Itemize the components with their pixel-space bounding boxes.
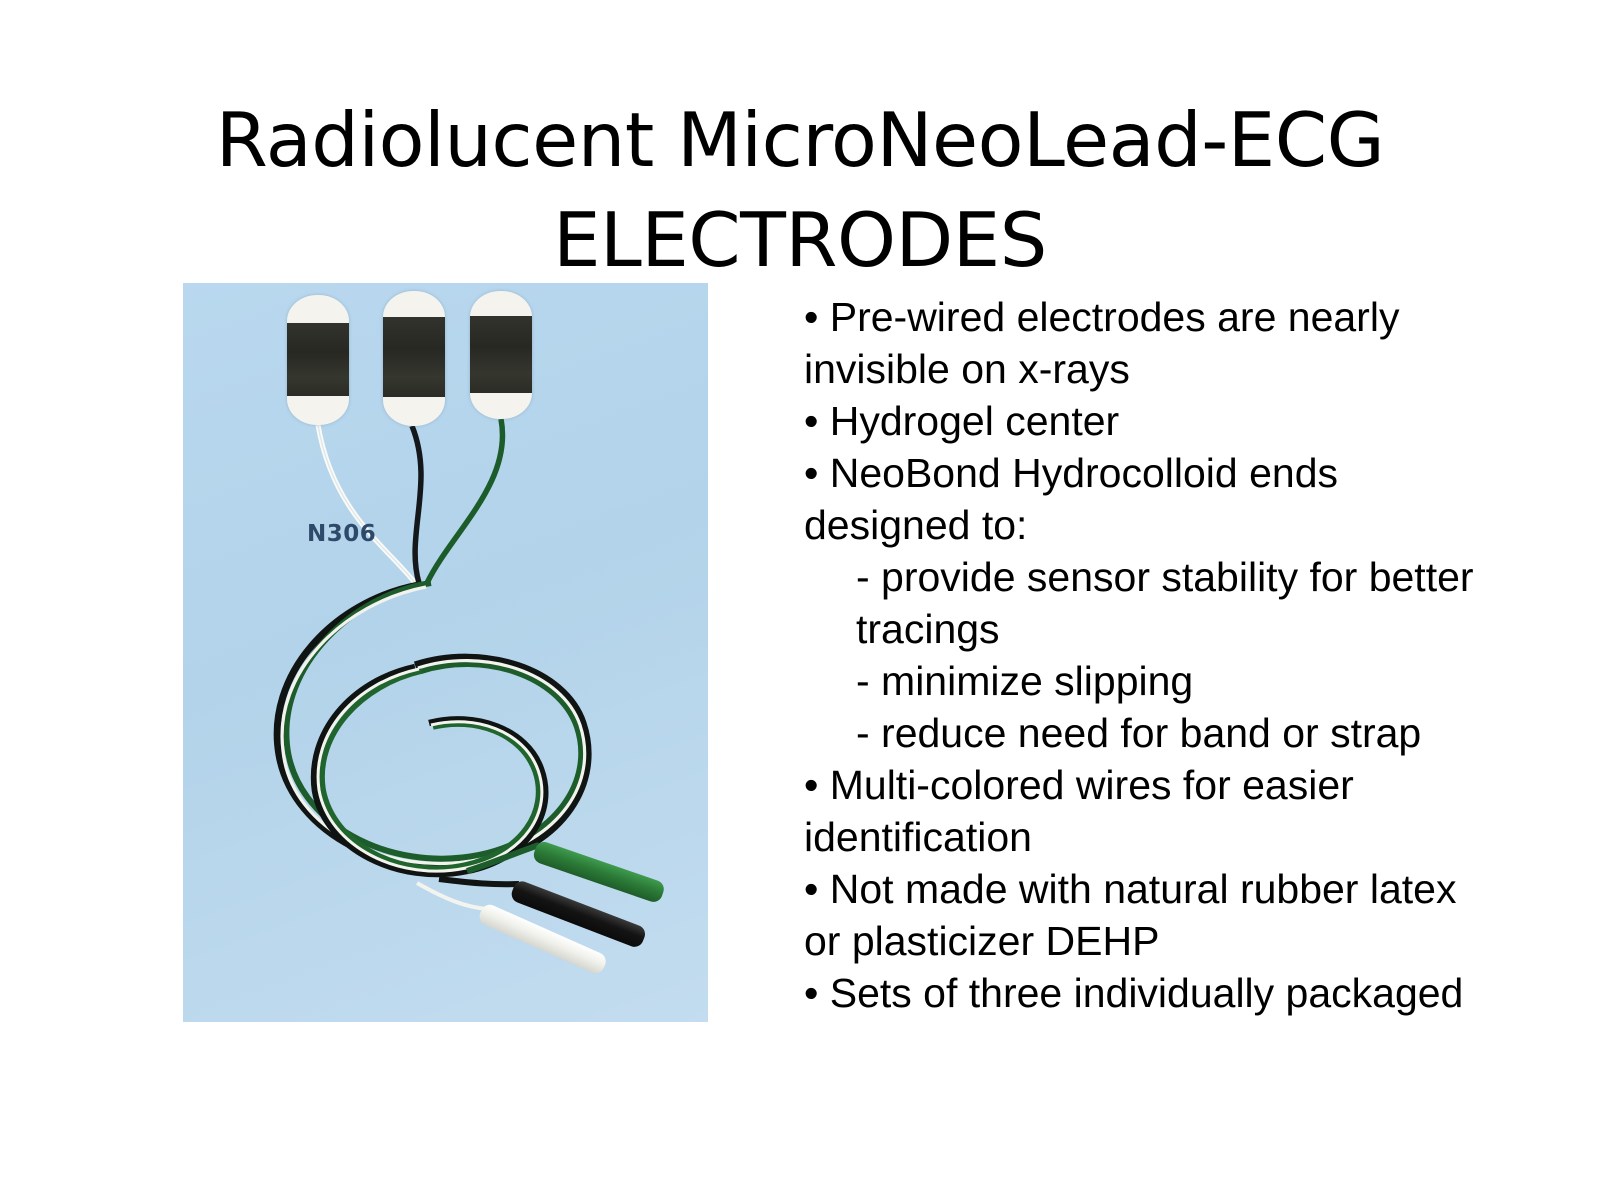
feature-bullet-list: • Pre-wired electrodes are nearly invisi… (804, 291, 1476, 1019)
wire-tail-white (417, 883, 487, 909)
bullet-subitem: - minimize slipping (804, 655, 1476, 707)
product-code-label: N306 (307, 521, 376, 547)
electrode-pad-left (287, 295, 349, 425)
electrode-sensor (383, 317, 445, 397)
electrode-pad-right (470, 291, 532, 419)
page-title: Radiolucent MicroNeoLead-ECG ELECTRODES (0, 90, 1600, 290)
bullet-subitem: - reduce need for band or strap (804, 707, 1476, 759)
product-photo: N306 (183, 283, 708, 1022)
wire-white (318, 425, 415, 583)
bullet-item: • Multi-colored wires for easier identif… (804, 759, 1476, 863)
bullet-item: • Hydrogel center (804, 395, 1476, 447)
bullet-subitem: - provide sensor stability for better tr… (804, 551, 1476, 655)
wire-white-edge (318, 425, 415, 583)
electrode-pad-center (383, 291, 445, 426)
wire-tail-black (439, 879, 519, 884)
bullet-item: • Not made with natural rubber latex or … (804, 863, 1476, 967)
bullet-item: • Sets of three individually packaged (804, 967, 1476, 1019)
lead-wires-illustration (183, 283, 708, 1022)
product-photo-canvas: N306 (183, 283, 708, 1022)
page-title-line-2: ELECTRODES (0, 190, 1600, 290)
electrode-sensor (287, 323, 349, 396)
wire-black (412, 426, 421, 583)
page-title-line-1: Radiolucent MicroNeoLead-ECG (0, 90, 1600, 190)
bullet-item: • Pre-wired electrodes are nearly invisi… (804, 291, 1476, 395)
wire-green (427, 419, 503, 583)
electrode-sensor (470, 316, 532, 393)
bullet-item: • NeoBond Hydrocolloid ends designed to: (804, 447, 1476, 551)
